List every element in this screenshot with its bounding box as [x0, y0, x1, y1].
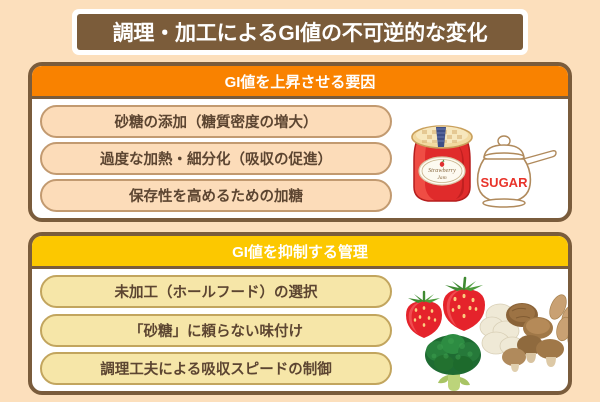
- page-title-frame: 調理・加工によるGI値の不可逆的な変化: [72, 9, 528, 55]
- sugar-pot-icon: SUGAR: [470, 131, 562, 209]
- list-item-label: 調理工夫による吸収スピードの制御: [100, 358, 332, 379]
- jam-label-line2: Jam: [437, 175, 446, 181]
- page-title: 調理・加工によるGI値の不可逆的な変化: [113, 17, 488, 47]
- card-header-gi-raising: GI値を上昇させる要因: [32, 66, 568, 99]
- list-item[interactable]: 「砂糖」に頼らない味付け: [40, 314, 392, 347]
- card-body-gi-raising: 砂糖の添加（糖質密度の増大） 過度な加熱・細分化（吸収の促進） 保存性を高めるた…: [32, 99, 568, 218]
- list-item[interactable]: 保存性を高めるための加糖: [40, 179, 392, 212]
- list-item-label: 過度な加熱・細分化（吸収の促進）: [100, 148, 332, 169]
- jam-label-line1: Strawberry: [428, 167, 456, 174]
- strawberry-jam-jar-icon: Strawberry Jam: [406, 109, 478, 205]
- card-gi-suppressing-management: GI値を抑制する管理 未加工（ホールフード）の選択 「砂糖」に頼らない味付け 調…: [28, 232, 572, 395]
- sugar-pot-label: SUGAR: [481, 175, 529, 190]
- illustration-wholefood-group: [392, 275, 560, 385]
- mushrooms-icon: [478, 291, 572, 375]
- list-item-label: 砂糖の添加（糖質密度の増大）: [115, 111, 318, 132]
- illustration-sugar-group: Strawberry Jam SUGAR: [392, 105, 560, 212]
- list-item-label: 保存性を高めるための加糖: [129, 185, 303, 206]
- page-title-inner: 調理・加工によるGI値の不可逆的な変化: [77, 14, 523, 50]
- card-body-gi-suppressing: 未加工（ホールフード）の選択 「砂糖」に頼らない味付け 調理工夫による吸収スピー…: [32, 269, 568, 391]
- list-item[interactable]: 調理工夫による吸収スピードの制御: [40, 352, 392, 385]
- pill-list-gi-raising: 砂糖の添加（糖質密度の増大） 過度な加熱・細分化（吸収の促進） 保存性を高めるた…: [40, 105, 392, 212]
- list-item[interactable]: 未加工（ホールフード）の選択: [40, 275, 392, 308]
- card-header-label: GI値を抑制する管理: [232, 241, 368, 262]
- pill-list-gi-suppressing: 未加工（ホールフード）の選択 「砂糖」に頼らない味付け 調理工夫による吸収スピー…: [40, 275, 392, 385]
- card-header-gi-suppressing: GI値を抑制する管理: [32, 236, 568, 269]
- list-item-label: 未加工（ホールフード）の選択: [115, 281, 318, 302]
- card-gi-raising-factors: GI値を上昇させる要因 砂糖の添加（糖質密度の増大） 過度な加熱・細分化（吸収の…: [28, 62, 572, 222]
- card-header-label: GI値を上昇させる要因: [225, 71, 376, 92]
- list-item-label: 「砂糖」に頼らない味付け: [129, 320, 303, 341]
- list-item[interactable]: 過度な加熱・細分化（吸収の促進）: [40, 142, 392, 175]
- list-item[interactable]: 砂糖の添加（糖質密度の増大）: [40, 105, 392, 138]
